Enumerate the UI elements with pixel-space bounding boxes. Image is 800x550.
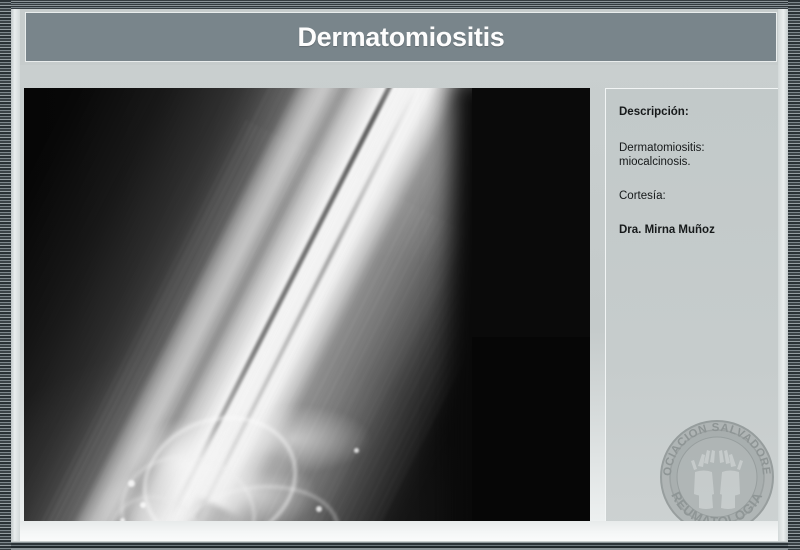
slide: Dermatomiositis — [20, 9, 788, 541]
slide-body: Descripción: Dermatomiositis: miocalcino… — [20, 65, 788, 541]
xray-canvas — [24, 88, 590, 539]
spacer — [619, 169, 770, 189]
window-border-top — [0, 0, 800, 9]
description-diagnosis-line-2: miocalcinosis. — [619, 155, 770, 169]
description-diagnosis-line-1: Dermatomiositis: — [619, 141, 770, 155]
courtesy-name: Dra. Mirna Muñoz — [619, 223, 770, 237]
window-bevel-left — [11, 9, 20, 541]
description-heading: Descripción: — [619, 105, 770, 119]
description-panel: Descripción: Dermatomiositis: miocalcino… — [605, 88, 783, 539]
xray-calcific-nodule — [140, 502, 146, 508]
slide-title-band: Dermatomiositis — [25, 12, 777, 62]
courtesy-label: Cortesía: — [619, 189, 770, 203]
window-border-right — [788, 0, 800, 550]
xray-calcific-nodule — [128, 480, 135, 487]
slide-bottom-strip — [20, 521, 788, 541]
window-border-bottom — [0, 541, 800, 550]
window-border-left — [0, 0, 11, 550]
page-title: Dermatomiositis — [297, 24, 504, 51]
presentation-window: Dermatomiositis — [0, 0, 800, 550]
xray-image — [24, 88, 590, 539]
xray-calcific-nodule — [354, 448, 359, 453]
spacer — [619, 119, 770, 141]
xray-calcific-nodule — [316, 506, 322, 512]
xray-letterbox-right-lower — [472, 337, 590, 539]
spacer — [619, 203, 770, 223]
